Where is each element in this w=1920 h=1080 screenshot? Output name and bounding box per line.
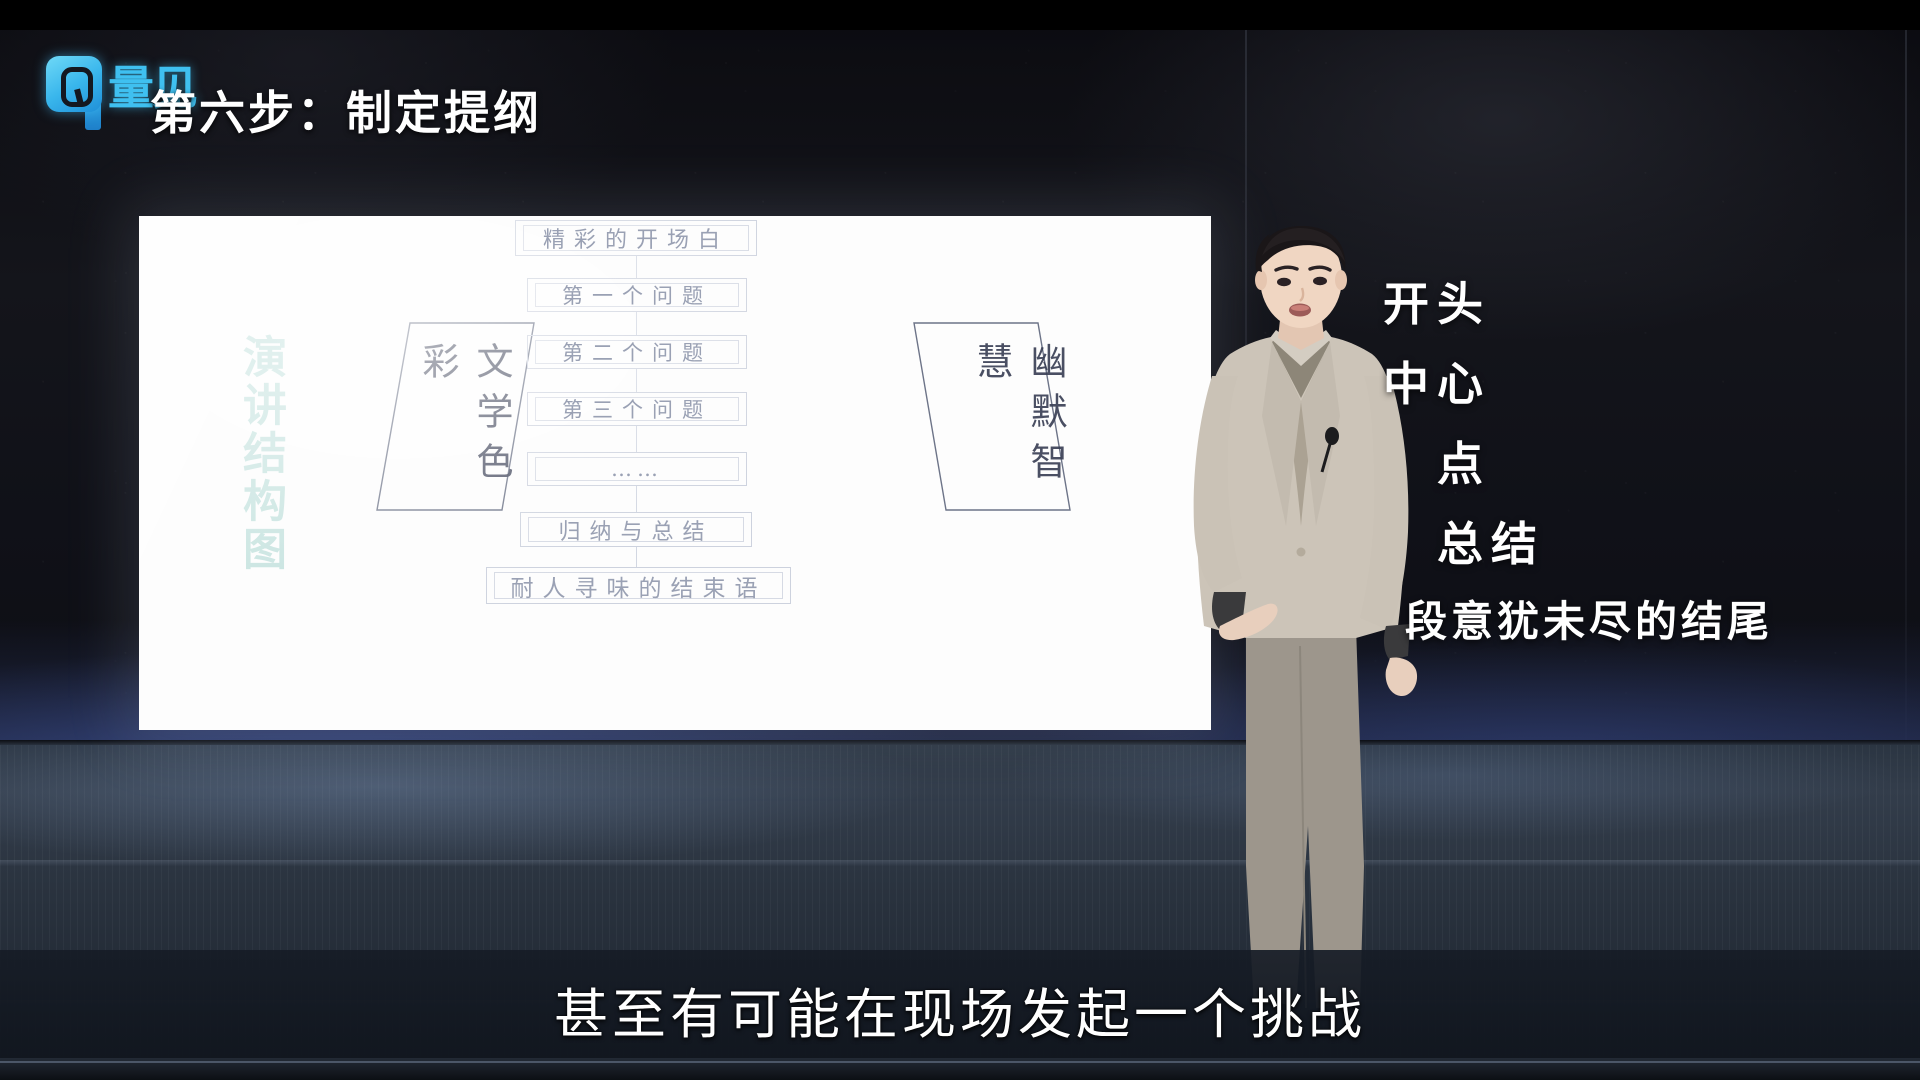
- flow-box: 第二个问题: [527, 335, 747, 369]
- right-trapezoid-text: 幽默智慧: [964, 342, 1072, 512]
- connector: [636, 312, 637, 335]
- page-title: 第六步：制定提纲: [150, 77, 542, 143]
- connector: [636, 486, 637, 512]
- flow-box: 精彩的开场白: [515, 220, 757, 256]
- overlay-word: 中心: [1383, 348, 1491, 414]
- flow-box: ……: [527, 452, 747, 486]
- left-trapezoid-text: 文学色彩: [410, 342, 518, 512]
- overlay-word: 总结: [1437, 508, 1545, 574]
- flow-box: 第三个问题: [527, 392, 747, 426]
- floor-strip-1: [0, 860, 1920, 866]
- bottom-rail: [0, 1058, 1920, 1080]
- video-frame: 演讲结构图 文学色彩 幽默智慧 精彩的开场白: [0, 0, 1920, 1080]
- flow-box: 第一个问题: [527, 278, 747, 312]
- flow-box: 归纳与总结: [520, 512, 752, 547]
- overlay-word: 开头: [1383, 268, 1491, 334]
- connector: [636, 547, 637, 567]
- left-trapezoid: 文学色彩: [376, 322, 536, 512]
- right-trapezoid: 幽默智慧: [912, 322, 1072, 512]
- q-logo-icon: [46, 56, 102, 112]
- letterbox-top: [0, 0, 1920, 30]
- connector: [636, 256, 637, 278]
- flow-box: 耐人寻味的结束语: [486, 567, 791, 604]
- connector: [636, 369, 637, 392]
- projected-slide: 演讲结构图 文学色彩 幽默智慧 精彩的开场白: [139, 216, 1211, 730]
- slide-vertical-label: 演讲结构图: [228, 334, 292, 574]
- connector: [636, 426, 637, 452]
- subtitle-text: 甚至有可能在现场发起一个挑战: [0, 950, 1920, 1068]
- overlay-word: 段意犹未尽的结尾: [1405, 588, 1773, 649]
- overlay-word: 点: [1437, 428, 1491, 494]
